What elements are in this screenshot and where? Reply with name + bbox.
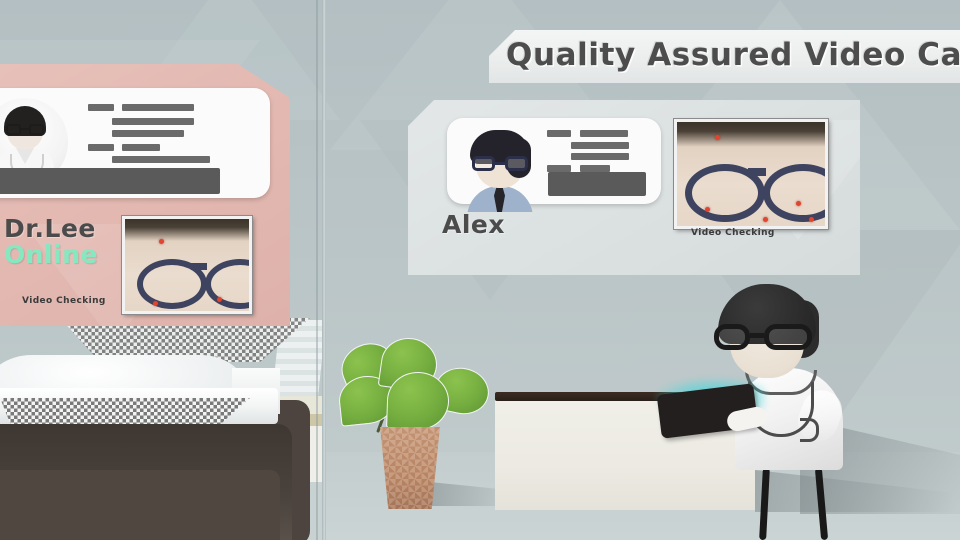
detection-marker: [715, 135, 720, 140]
card-text-bar: [112, 130, 184, 137]
doctor-video-thumbnail[interactable]: [122, 216, 252, 314]
title-banner: Quality Assured Video Ca: [489, 30, 960, 83]
card-text-bar: [580, 130, 628, 137]
card-text-bar: [547, 165, 571, 172]
potted-plant: [335, 330, 515, 510]
doctor-profile-card[interactable]: [0, 88, 270, 198]
doctor-name-label: Dr.Lee: [4, 214, 96, 243]
patient-name-label: Alex: [442, 210, 505, 239]
patient-video-label: Video Checking: [691, 228, 775, 238]
card-text-bar: [112, 118, 194, 125]
patient-info-panel[interactable]: Alex Video Checking: [408, 100, 860, 275]
card-text-bar: [88, 104, 114, 111]
scene-divider-shadow: [316, 0, 318, 540]
detection-marker: [705, 207, 710, 212]
patient-video-thumbnail[interactable]: [674, 119, 828, 229]
patient-avatar-icon: [461, 128, 539, 212]
card-text-bar: [88, 144, 114, 151]
card-text-bar: [122, 144, 160, 151]
card-text-bar: [122, 104, 194, 111]
card-text-bar: [580, 165, 610, 172]
card-text-bar: [112, 156, 210, 163]
stethoscope-chestpiece: [800, 418, 819, 442]
patient-card-content-block: [548, 172, 646, 196]
scene-divider: [322, 0, 326, 540]
glasses-bridge: [748, 168, 766, 176]
page-title: Quality Assured Video Ca: [506, 37, 960, 73]
card-text-bar: [571, 142, 629, 149]
avatar-glasses-icon: [6, 124, 44, 135]
avatar-glasses-icon: [472, 156, 528, 171]
doctor-glasses-icon: [714, 324, 812, 350]
card-content-block: [0, 168, 220, 194]
glasses-bridge: [191, 263, 207, 270]
detection-marker: [763, 217, 768, 222]
card-text-bar: [571, 153, 629, 160]
detection-marker: [809, 217, 814, 222]
screenshot-stage: Dr.Lee Online Video Checking Quality Ass…: [0, 0, 960, 540]
detection-marker: [153, 301, 158, 306]
detection-marker: [217, 297, 222, 302]
card-text-bar: [547, 130, 571, 137]
doctor-video-label: Video Checking: [22, 296, 106, 306]
bed-frame-shadow: [0, 470, 280, 540]
detection-marker: [159, 239, 164, 244]
detection-marker: [796, 201, 801, 206]
doctor-status-badge: Online: [4, 240, 98, 269]
